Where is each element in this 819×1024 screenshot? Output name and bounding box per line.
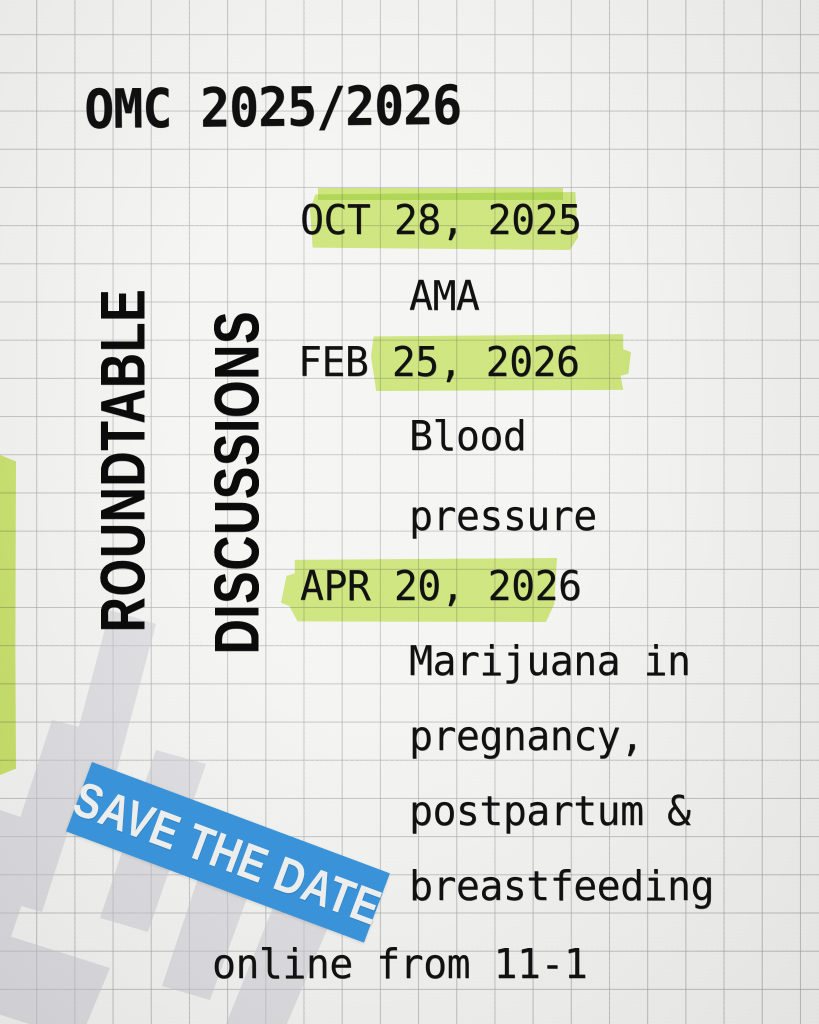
heading-roundtable: ROUNDTABLE <box>88 288 160 632</box>
save-the-date-poster: OMC 2025/2026 ROUNDTABLE DISCUSSIONS OCT… <box>0 0 819 1024</box>
page-title: OMC 2025/2026 <box>84 74 461 141</box>
highlight-apr-20-2026 <box>281 558 557 622</box>
highlight-left-edge <box>0 455 16 775</box>
highlight-oct-28-2025 <box>310 192 578 250</box>
heading-discussions: DISCUSSIONS <box>202 310 274 654</box>
highlight-feb-25-2026 <box>371 333 631 391</box>
